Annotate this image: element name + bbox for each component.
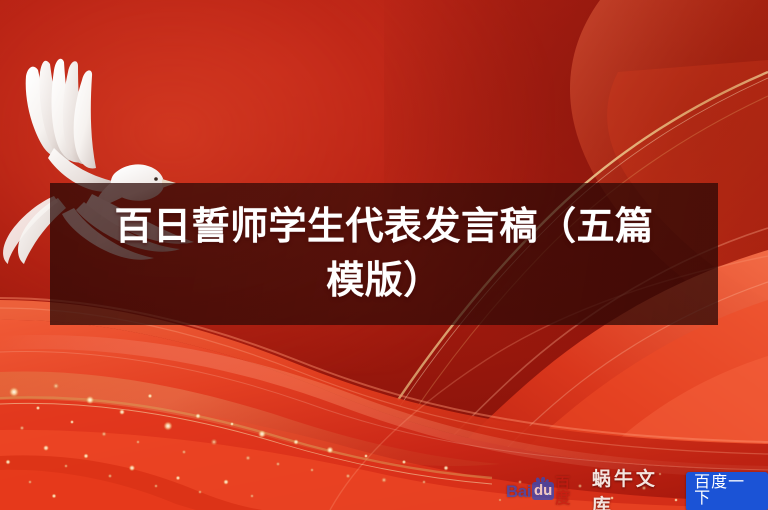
- page-title-line-2: 模版）: [326, 254, 442, 308]
- baidu-logo-du: du: [532, 482, 554, 500]
- baidu-logo-bai: Bai: [506, 483, 531, 500]
- baidu-logo-chinese: 百度: [555, 476, 583, 506]
- baidu-logo-du-text: du: [534, 482, 552, 499]
- cover-image: 百日誓师学生代表发言稿（五篇 模版） Bai du 百度 蜗牛文库 百度一下: [0, 0, 768, 510]
- watermark: Bai du 百度 蜗牛文库 百度一下: [506, 478, 768, 504]
- baidu-search-button[interactable]: 百度一下: [686, 472, 768, 510]
- baidu-paw-icon: [535, 477, 549, 484]
- watermark-brand: 蜗牛文库: [592, 464, 677, 510]
- page-title: 百日誓师学生代表发言稿（五篇 模版）: [50, 183, 718, 325]
- baidu-logo: Bai du 百度: [506, 476, 583, 506]
- page-title-line-1: 百日誓师学生代表发言稿（五篇: [114, 200, 653, 254]
